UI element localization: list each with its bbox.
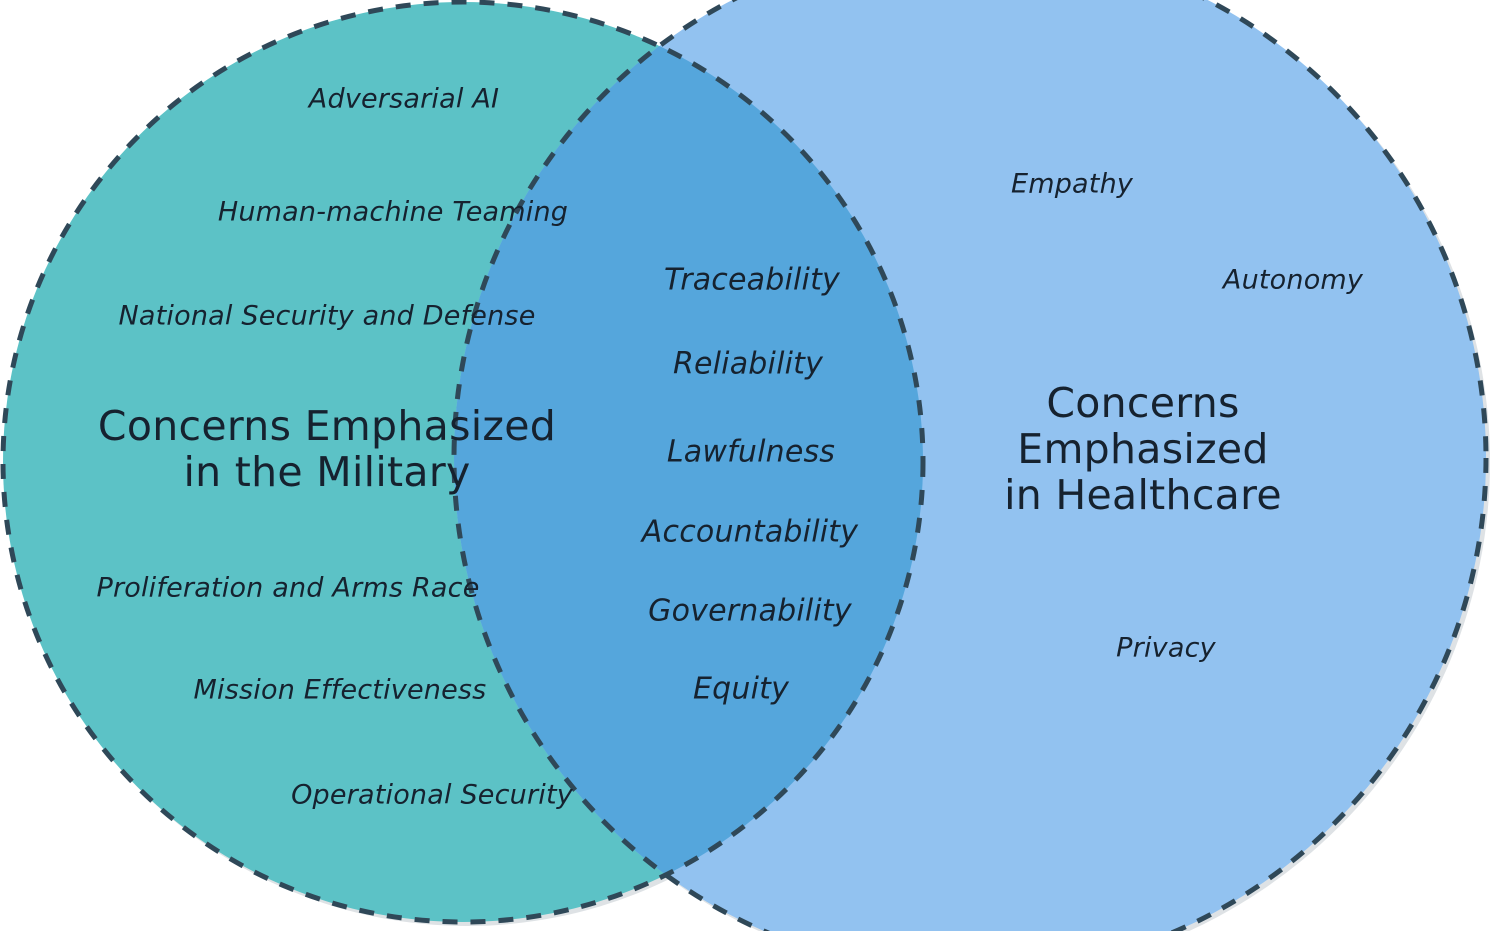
- right-set-item[interactable]: Autonomy: [1223, 265, 1363, 296]
- left-set-item[interactable]: Adversarial AI: [309, 84, 499, 115]
- left-set-item[interactable]: National Security and Defense: [118, 301, 535, 332]
- intersection-item[interactable]: Governability: [648, 594, 852, 629]
- left-set-item[interactable]: Mission Effectiveness: [194, 675, 487, 706]
- intersection-item[interactable]: Equity: [693, 672, 789, 707]
- right-set-item[interactable]: Privacy: [1116, 633, 1216, 664]
- left-set-item[interactable]: Operational Security: [291, 780, 573, 811]
- intersection-item[interactable]: Accountability: [642, 515, 858, 550]
- left-set-title: Concerns Emphasized in the Military: [98, 404, 556, 496]
- left-set-item[interactable]: Proliferation and Arms Race: [96, 573, 479, 604]
- intersection-item[interactable]: Reliability: [673, 347, 823, 382]
- intersection-item[interactable]: Lawfulness: [667, 435, 835, 470]
- right-set-title: Concerns Emphasized in Healthcare: [965, 381, 1322, 519]
- left-set-item[interactable]: Human-machine Teaming: [218, 197, 568, 228]
- right-set-item[interactable]: Empathy: [1011, 169, 1133, 200]
- venn-diagram-canvas: Concerns Emphasized in the Military Adve…: [0, 0, 1500, 931]
- intersection-item[interactable]: Traceability: [664, 263, 840, 298]
